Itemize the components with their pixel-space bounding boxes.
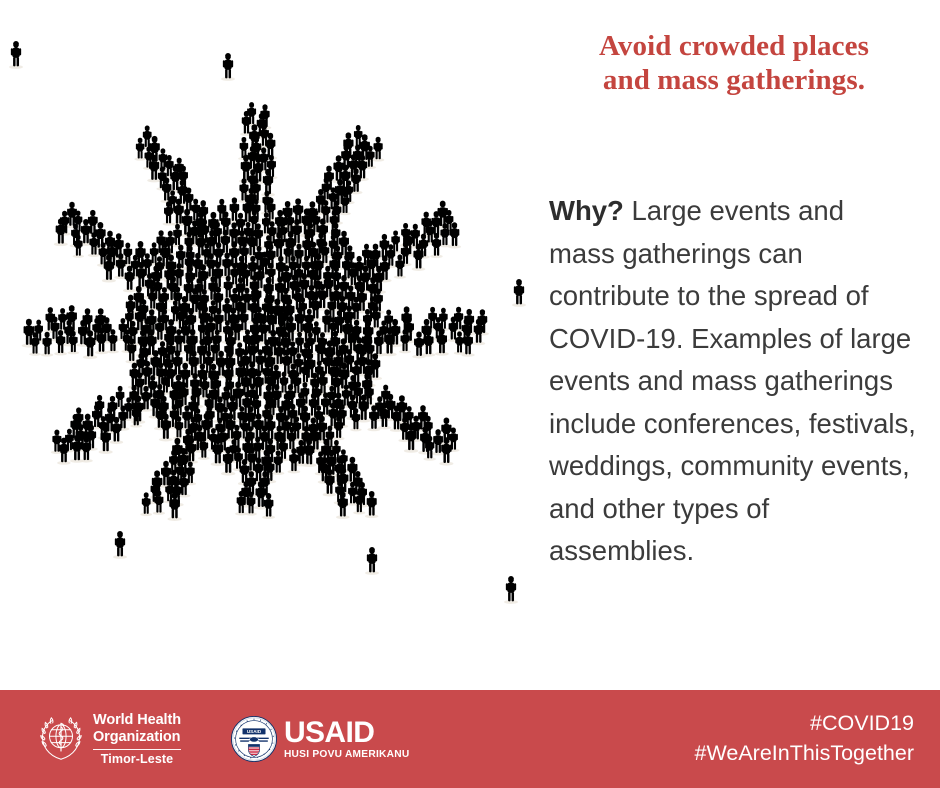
who-name-line-1: World Health <box>93 712 181 729</box>
page-headline: Avoid crowded places and mass gatherings… <box>548 30 920 98</box>
body-copy: Why? Large events and mass gatherings ca… <box>549 190 917 573</box>
who-wordmark: World Health Organization Timor-Leste <box>93 712 181 765</box>
usaid-name-label: USAID <box>284 718 410 748</box>
footer-logos: World Health Organization Timor-Leste <box>38 690 409 788</box>
footer-hashtags: #COVID19 #WeAreInThisTogether <box>695 690 915 788</box>
hashtag-covid19: #COVID19 <box>810 710 914 738</box>
usaid-logo-lockup: USAID <box>231 716 410 762</box>
usaid-seal-icon: USAID <box>231 716 277 762</box>
who-logo-lockup: World Health Organization Timor-Leste <box>38 712 181 765</box>
body-copy-text: Large events and mass gatherings can con… <box>549 195 916 566</box>
svg-text:USAID: USAID <box>247 729 262 734</box>
who-name-line-2: Organization <box>93 729 181 746</box>
crowd-virus-illustration: .p { } .c1 .shirt{fill:#D4623F}.c1 .legs… <box>0 0 540 660</box>
usaid-wordmark: USAID HUSI POVU AMERIKANU <box>284 718 410 760</box>
who-divider <box>93 749 181 750</box>
why-lead-label: Why? <box>549 195 624 226</box>
usaid-tagline-label: HUSI POVU AMERIKANU <box>284 750 410 760</box>
footer-bar: World Health Organization Timor-Leste <box>0 690 940 788</box>
crowd-virus-svg: .p { } .c1 .shirt{fill:#D4623F}.c1 .legs… <box>0 0 540 660</box>
headline-line-1: Avoid crowded places <box>548 30 920 64</box>
who-country-label: Timor-Leste <box>93 753 181 766</box>
poster-root: .p { } .c1 .shirt{fill:#D4623F}.c1 .legs… <box>0 0 940 788</box>
who-emblem-icon <box>38 716 84 762</box>
headline-line-2: and mass gatherings. <box>548 64 920 98</box>
hashtag-weareinthistogether: #WeAreInThisTogether <box>695 740 915 768</box>
